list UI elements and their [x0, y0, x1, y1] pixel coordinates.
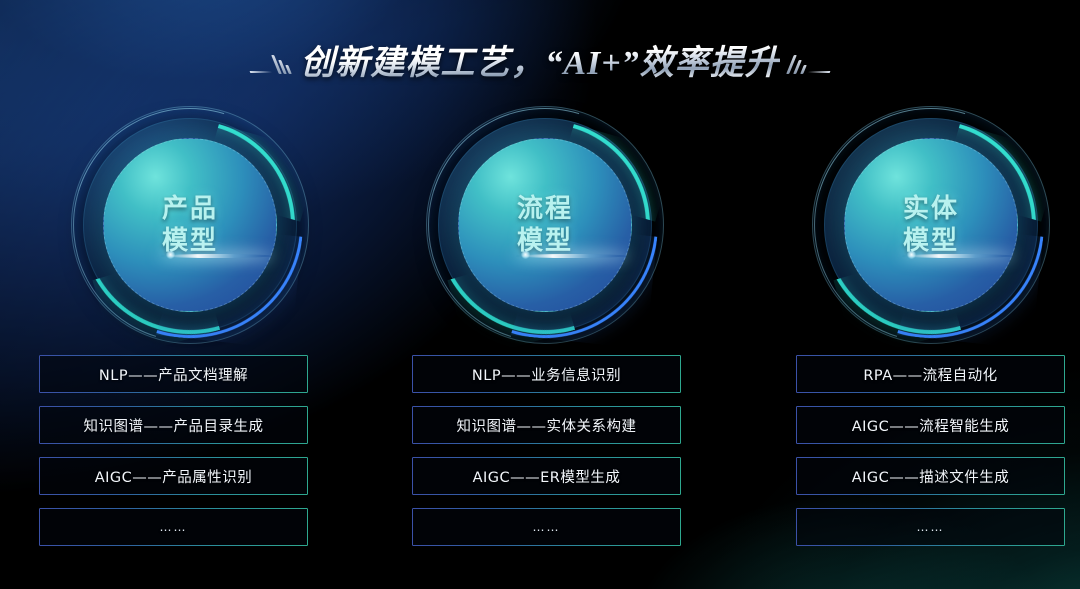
- circle-inner-sphere: 流程 模型: [458, 138, 632, 312]
- list-item-label: AIGC——ER模型生成: [473, 466, 621, 487]
- item-list-product-model: NLP——产品文档理解 知识图谱——产品目录生成 AIGC——产品属性识别 ……: [39, 355, 308, 559]
- list-item[interactable]: RPA——流程自动化: [796, 355, 1065, 393]
- circle-entity-model[interactable]: 实体 模型: [812, 106, 1050, 344]
- circle-label-line1: 产品: [162, 193, 218, 226]
- item-list-entity-model: RPA——流程自动化 AIGC——流程智能生成 AIGC——描述文件生成 ……: [796, 355, 1065, 559]
- circle-product-model[interactable]: 产品 模型: [71, 106, 309, 344]
- item-list-process-model: NLP——业务信息识别 知识图谱——实体关系构建 AIGC——ER模型生成 ……: [412, 355, 681, 559]
- list-item-label: 知识图谱——实体关系构建: [457, 415, 637, 436]
- list-item[interactable]: AIGC——流程智能生成: [796, 406, 1065, 444]
- list-item[interactable]: AIGC——ER模型生成: [412, 457, 681, 495]
- page-title: 创新建模工艺，“AI+”效率提升: [300, 35, 779, 84]
- circle-inner-sphere: 产品 模型: [103, 138, 277, 312]
- list-item-label: NLP——业务信息识别: [472, 364, 621, 385]
- slide-canvas: 创新建模工艺，“AI+”效率提升 产品 模型 流程 模型: [0, 0, 1080, 589]
- list-item[interactable]: NLP——业务信息识别: [412, 355, 681, 393]
- list-item-label: AIGC——流程智能生成: [852, 415, 1010, 436]
- circle-inner-sphere: 实体 模型: [844, 138, 1018, 312]
- list-item-label: AIGC——描述文件生成: [852, 466, 1010, 487]
- list-item-label: ……: [533, 520, 561, 534]
- list-item[interactable]: ……: [796, 508, 1065, 546]
- list-item[interactable]: AIGC——描述文件生成: [796, 457, 1065, 495]
- circle-label-line1: 实体: [903, 193, 959, 226]
- list-item-label: ……: [160, 520, 188, 534]
- list-item[interactable]: NLP——产品文档理解: [39, 355, 308, 393]
- slash-decoration-left-icon: [250, 44, 290, 74]
- list-item[interactable]: ……: [39, 508, 308, 546]
- list-item[interactable]: AIGC——产品属性识别: [39, 457, 308, 495]
- list-item-label: AIGC——产品属性识别: [95, 466, 253, 487]
- list-item[interactable]: 知识图谱——产品目录生成: [39, 406, 308, 444]
- list-item-label: ……: [917, 520, 945, 534]
- list-item-label: RPA——流程自动化: [863, 364, 997, 385]
- circle-label-line1: 流程: [517, 193, 573, 226]
- list-item[interactable]: ……: [412, 508, 681, 546]
- list-item[interactable]: 知识图谱——实体关系构建: [412, 406, 681, 444]
- circle-process-model[interactable]: 流程 模型: [426, 106, 664, 344]
- title-bar: 创新建模工艺，“AI+”效率提升: [0, 28, 1080, 90]
- slash-decoration-right-icon: [790, 44, 830, 74]
- list-item-label: NLP——产品文档理解: [99, 364, 248, 385]
- list-item-label: 知识图谱——产品目录生成: [84, 415, 264, 436]
